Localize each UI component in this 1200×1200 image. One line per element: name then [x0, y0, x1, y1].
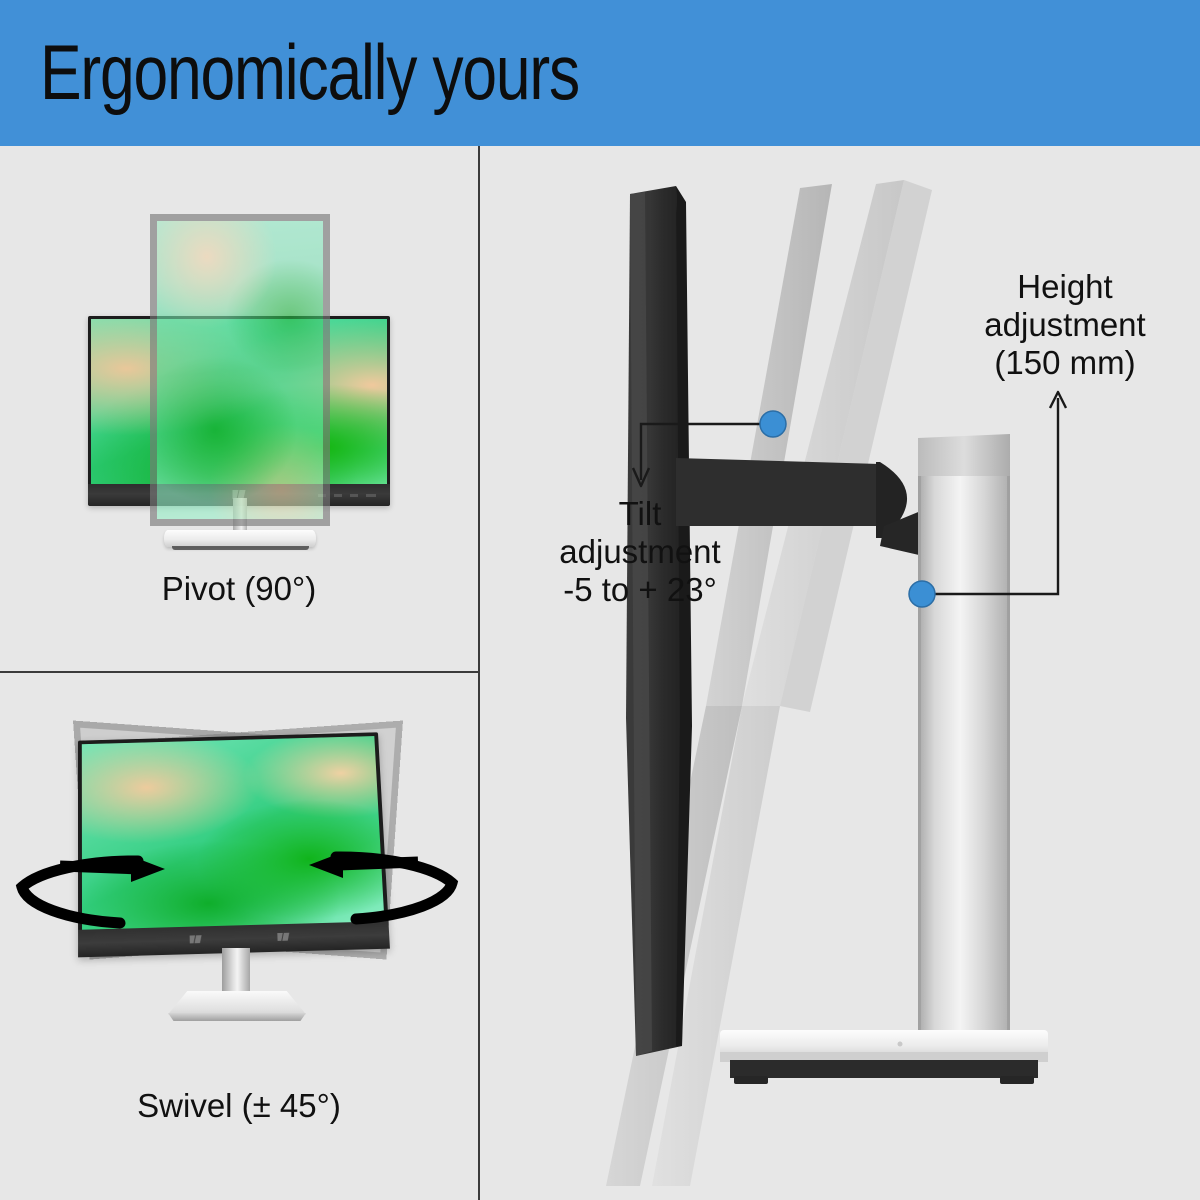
header-banner: Ergonomically yours — [0, 0, 1200, 146]
monitor-stand-base-edge — [168, 1013, 306, 1021]
stand-base — [720, 1030, 1048, 1084]
monitor-stand-base — [164, 530, 316, 547]
height-callout-dot — [909, 581, 935, 607]
height-callout-line-3: (150 mm) — [930, 344, 1200, 382]
power-indicator-icon — [277, 933, 289, 941]
tilt-callout-line-2: adjustment — [520, 533, 760, 571]
stand-column — [918, 434, 1010, 1032]
swivel-caption: Swivel (± 45°) — [0, 1087, 478, 1125]
tilt-callout-line-1: Tilt — [520, 495, 760, 533]
tilt-adjustment-callout: Tilt adjustment -5 to + 23° — [520, 495, 760, 609]
height-callout-line-2: adjustment — [930, 306, 1200, 344]
monitor-portrait-ghost — [150, 214, 330, 526]
infographic-page: Ergonomically yours Pivot (90°) — [0, 0, 1200, 1200]
height-callout-line-1: Height — [930, 268, 1200, 306]
ghost-screen-wallpaper — [157, 221, 323, 519]
tilt-callout-line-3: -5 to + 23° — [520, 571, 760, 609]
pivot-caption: Pivot (90°) — [0, 570, 478, 608]
monitor-screen-wallpaper — [82, 736, 385, 930]
monitor-panel-side — [626, 186, 692, 1056]
page-title: Ergonomically yours — [40, 30, 579, 114]
monitor-stand-base-shadow — [172, 546, 309, 550]
height-adjustment-callout: Height adjustment (150 mm) — [930, 268, 1200, 382]
hp-logo-icon — [190, 935, 202, 943]
tilt-callout-dot — [760, 411, 786, 437]
monitor-swivel-main — [78, 732, 390, 957]
